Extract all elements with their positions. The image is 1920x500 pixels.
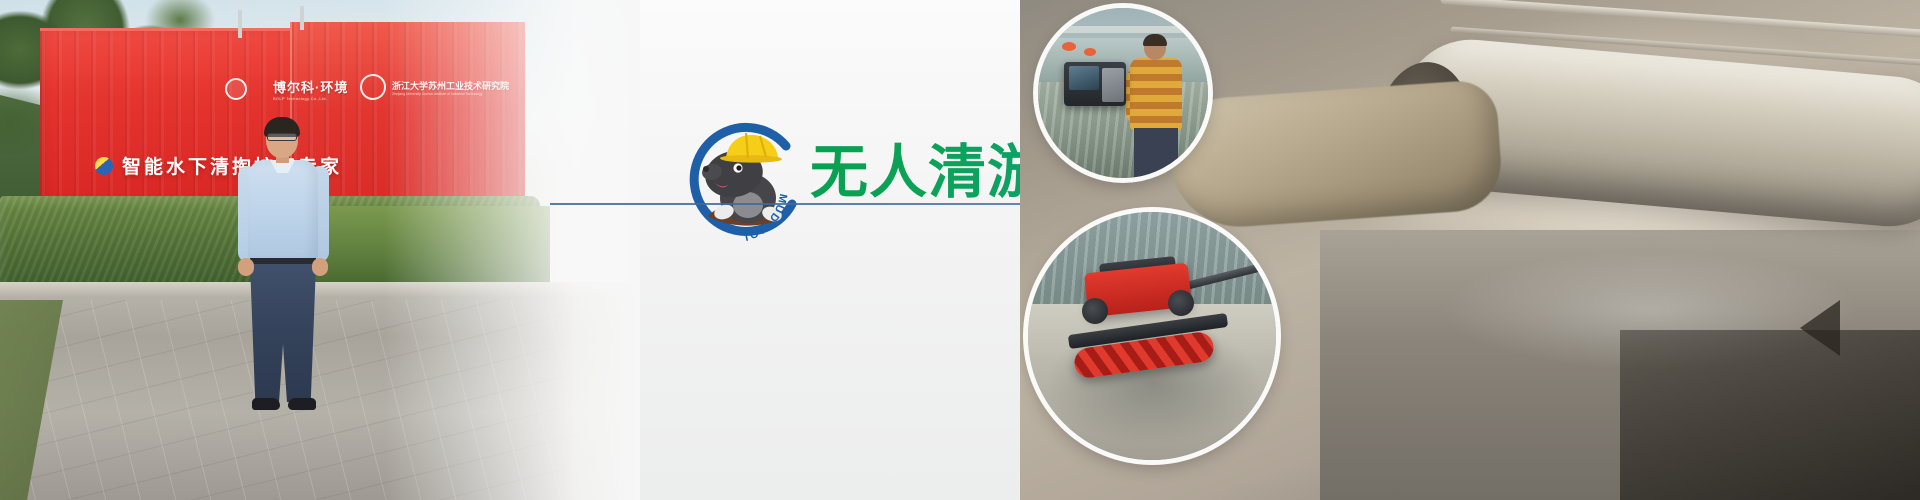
shadow-area bbox=[1620, 330, 1920, 500]
walkway bbox=[1038, 26, 1208, 33]
divider-line bbox=[550, 203, 1020, 205]
hero-banner: 博尔科·环境 BOLP Technology Co.,Ltd. 浙江大学苏州工业… bbox=[0, 0, 1920, 500]
dredging-robot-photo-circle bbox=[1028, 212, 1276, 460]
console-control-panel bbox=[1102, 68, 1124, 102]
operator-hair bbox=[1143, 34, 1167, 46]
mud-mole-logo: MUD MOLE bbox=[668, 108, 818, 258]
orange-buoy bbox=[1084, 48, 1096, 56]
orange-buoy bbox=[1062, 42, 1076, 51]
center-block: MUD MOLE 无人清淤行业引领者 bbox=[540, 0, 1040, 500]
operator-striped-shirt bbox=[1130, 58, 1182, 130]
sludge-flow bbox=[1166, 79, 1504, 232]
console-screen bbox=[1069, 66, 1099, 90]
operator-photo-circle bbox=[1038, 8, 1208, 178]
arrow-shape bbox=[1800, 300, 1840, 356]
operator-figure bbox=[1124, 36, 1194, 178]
right-photo-group bbox=[1020, 0, 1920, 500]
robot-wheel-right bbox=[1168, 290, 1194, 316]
robot-wheel-left bbox=[1082, 298, 1108, 324]
operator-legs bbox=[1134, 128, 1178, 178]
